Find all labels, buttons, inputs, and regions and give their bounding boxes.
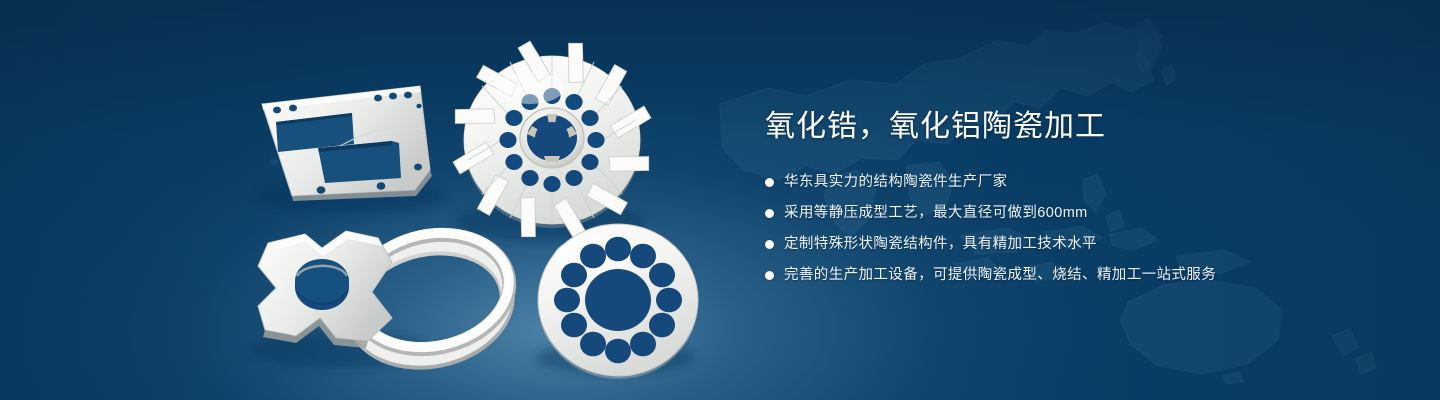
bullet-dot-icon: [765, 209, 774, 218]
feature-text-1: 华东具实力的结构陶瓷件生产厂家: [784, 172, 1008, 192]
feature-item-3: 定制特殊形状陶瓷结构件，具有精加工技术水平: [765, 234, 1365, 254]
banner-feature-list: 华东具实力的结构陶瓷件生产厂家 采用等静压成型工艺，最大直径可做到600mm 定…: [765, 172, 1365, 285]
bullet-dot-icon: [765, 271, 774, 280]
feature-text-2: 采用等静压成型工艺，最大直径可做到600mm: [784, 203, 1088, 223]
hero-banner: 氧化锆，氧化铝陶瓷加工 华东具实力的结构陶瓷件生产厂家 采用等静压成型工艺，最大…: [0, 0, 1440, 400]
ceramic-machined-plate: [262, 86, 432, 201]
feature-text-4: 完善的生产加工设备，可提供陶瓷成型、烧结、精加工一站式服务: [784, 265, 1216, 285]
banner-headline: 氧化锆，氧化铝陶瓷加工: [765, 108, 1365, 146]
feature-text-3: 定制特殊形状陶瓷结构件，具有精加工技术水平: [784, 234, 1097, 254]
ceramic-cross-shaped-part: [258, 231, 392, 348]
ceramic-products-image: [0, 0, 740, 400]
ceramic-perforated-disc: [538, 224, 698, 379]
feature-item-2: 采用等静压成型工艺，最大直径可做到600mm: [765, 203, 1365, 223]
bullet-dot-icon: [765, 178, 774, 187]
bullet-dot-icon: [765, 240, 774, 249]
feature-item-4: 完善的生产加工设备，可提供陶瓷成型、烧结、精加工一站式服务: [765, 265, 1365, 285]
banner-copy: 氧化锆，氧化铝陶瓷加工 华东具实力的结构陶瓷件生产厂家 采用等静压成型工艺，最大…: [765, 108, 1365, 296]
feature-item-1: 华东具实力的结构陶瓷件生产厂家: [765, 172, 1365, 192]
